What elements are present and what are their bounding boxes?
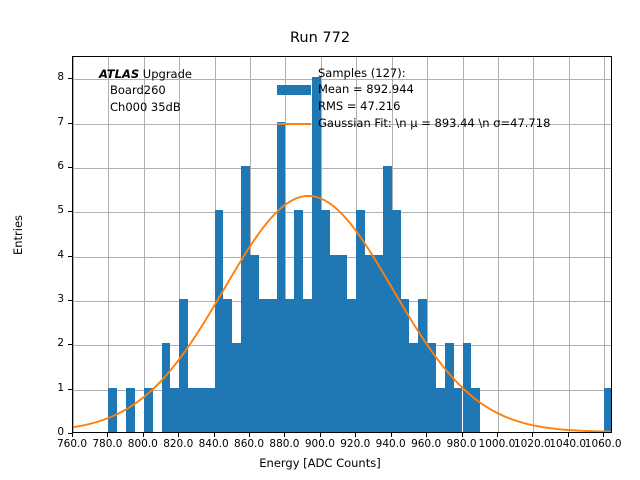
y-axis-label: Entries <box>11 135 25 335</box>
y-axis-tick <box>68 389 72 390</box>
y-axis-tick <box>68 123 72 124</box>
y-axis-tick-label: 7 <box>38 116 64 128</box>
legend-line-fit <box>277 115 311 116</box>
atlas-annotation: ATLAS Upgrade Board260 Ch000 35dB <box>99 66 192 115</box>
legend-entry-fit: Gaussian Fit: \n μ = 893.44 \n σ=47.718 <box>277 115 550 131</box>
x-axis-tick <box>532 433 533 437</box>
x-axis-tick-label: 1060.0 <box>573 438 633 450</box>
y-axis-tick-label: 3 <box>38 293 64 305</box>
x-axis-tick <box>320 433 321 437</box>
x-axis-tick <box>426 433 427 437</box>
legend-samples-count: Samples (127): <box>318 65 414 81</box>
legend-entry-samples: Samples (127): Mean = 892.944 RMS = 47.2… <box>277 65 550 114</box>
x-axis-tick <box>497 433 498 437</box>
y-axis-tick-label: 8 <box>38 71 64 83</box>
y-axis-tick <box>68 433 72 434</box>
y-axis-tick <box>68 344 72 345</box>
x-axis-tick <box>178 433 179 437</box>
y-axis-tick-label: 6 <box>38 160 64 172</box>
x-axis-tick <box>143 433 144 437</box>
x-axis-tick <box>462 433 463 437</box>
atlas-label-line: ATLAS Upgrade <box>99 66 192 82</box>
x-axis-tick <box>603 433 604 437</box>
x-axis-tick <box>249 433 250 437</box>
x-axis-tick <box>284 433 285 437</box>
legend-samples-mean: Mean = 892.944 <box>318 81 414 97</box>
y-axis-tick <box>68 78 72 79</box>
y-axis-tick-label: 0 <box>38 426 64 438</box>
figure-canvas: Run 772 ATLAS Upgrade Board260 Ch000 35d… <box>0 0 640 480</box>
x-axis-label: Energy [ADC Counts] <box>0 456 640 470</box>
x-axis-tick <box>107 433 108 437</box>
y-axis-tick-label: 2 <box>38 337 64 349</box>
x-axis-tick <box>214 433 215 437</box>
channel-label: Ch000 35dB <box>99 99 192 115</box>
x-axis-tick <box>355 433 356 437</box>
y-axis-tick <box>68 300 72 301</box>
y-axis-tick-label: 1 <box>38 382 64 394</box>
x-axis-tick <box>391 433 392 437</box>
legend-swatch-histogram <box>277 65 311 66</box>
y-axis-tick-label: 4 <box>38 249 64 261</box>
plot-area: ATLAS Upgrade Board260 Ch000 35dB Sample… <box>72 56 612 433</box>
atlas-suffix: Upgrade <box>139 67 192 81</box>
y-axis-tick <box>68 211 72 212</box>
y-axis-tick <box>68 167 72 168</box>
x-axis-tick <box>568 433 569 437</box>
board-label: Board260 <box>99 82 192 98</box>
atlas-word: ATLAS <box>99 67 139 81</box>
legend: Samples (127): Mean = 892.944 RMS = 47.2… <box>277 65 550 132</box>
legend-samples-rms: RMS = 47.216 <box>318 98 414 114</box>
y-axis-tick <box>68 256 72 257</box>
y-axis-tick-label: 5 <box>38 204 64 216</box>
legend-label-samples: Samples (127): Mean = 892.944 RMS = 47.2… <box>318 65 414 114</box>
chart-title: Run 772 <box>0 30 640 46</box>
x-axis-tick <box>72 433 73 437</box>
legend-label-fit: Gaussian Fit: \n μ = 893.44 \n σ=47.718 <box>318 115 550 131</box>
